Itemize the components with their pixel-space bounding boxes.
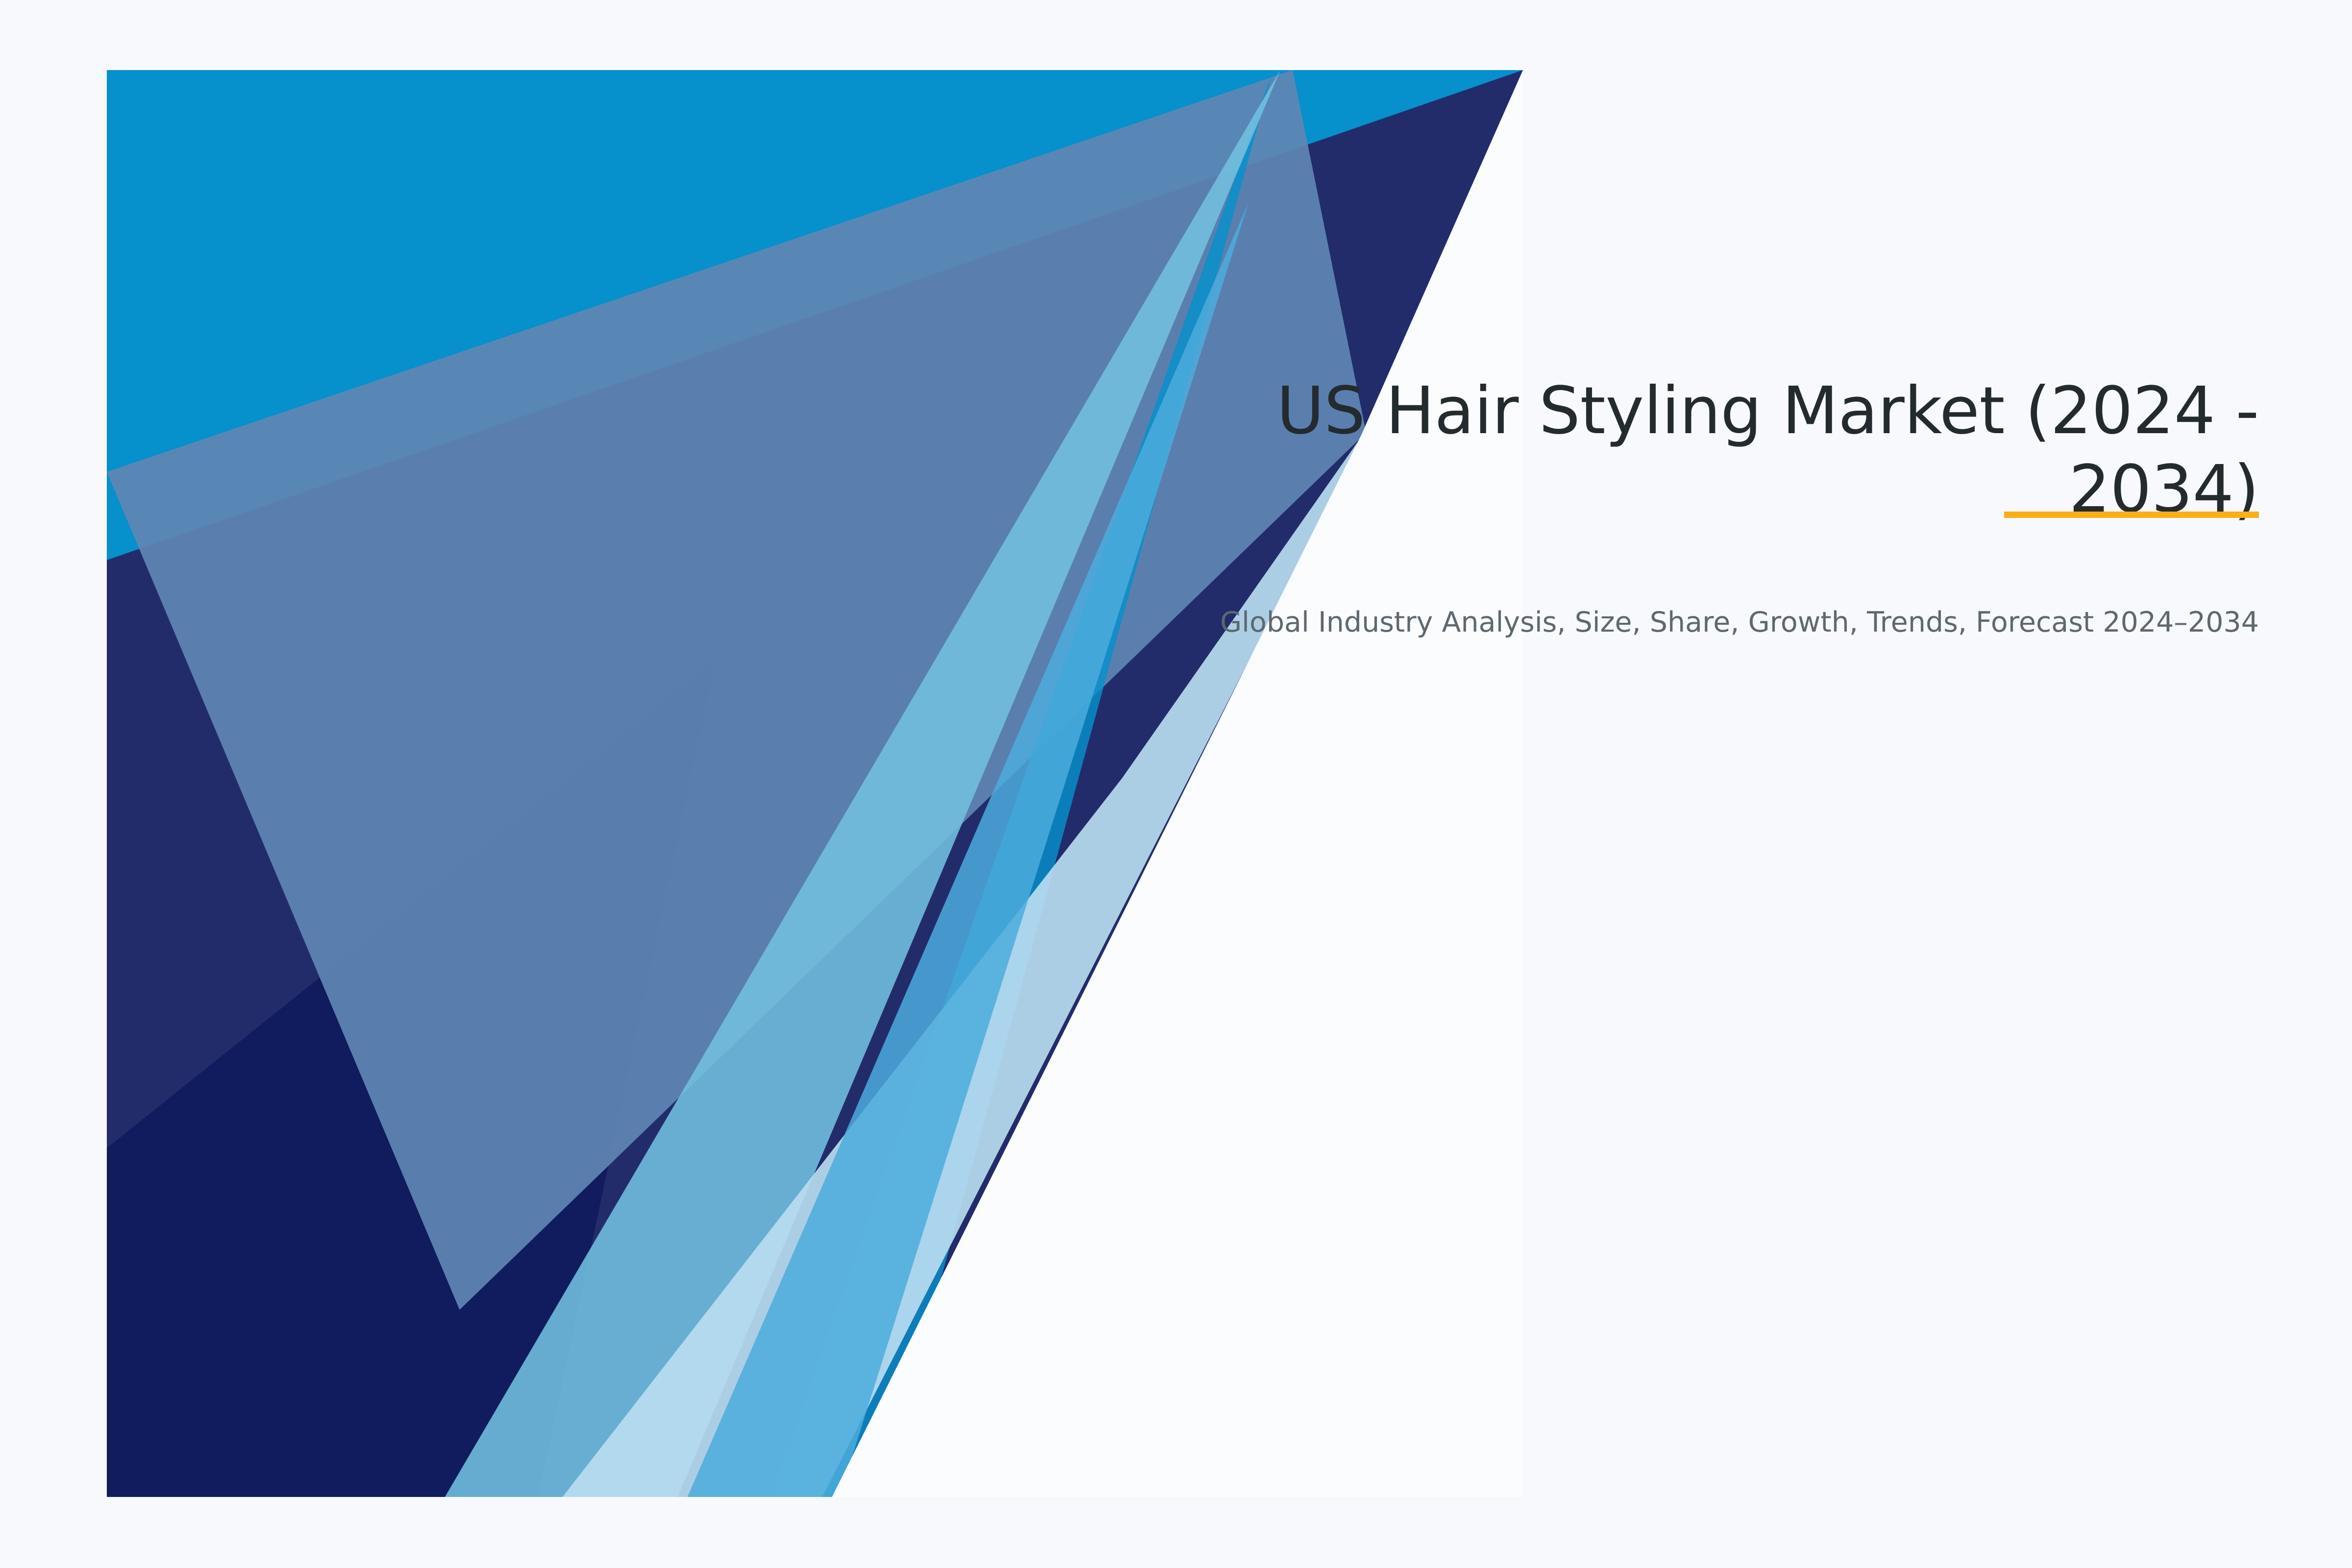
title-wrapper: US Hair Styling Market (2024 - 2034) [1127,372,2259,529]
title-slide: US Hair Styling Market (2024 - 2034) Glo… [0,0,2352,1568]
slide-text-block: US Hair Styling Market (2024 - 2034) Glo… [1127,372,2259,642]
shape-group [107,70,1523,1497]
page-title: US Hair Styling Market (2024 - 2034) [1127,372,2259,529]
slide-subtitle: Global Industry Analysis, Size, Share, G… [1127,529,2259,642]
abstract-shapes-svg [107,70,1523,1497]
decorative-artwork [107,70,1523,1497]
title-accent-underline [2004,512,2259,518]
